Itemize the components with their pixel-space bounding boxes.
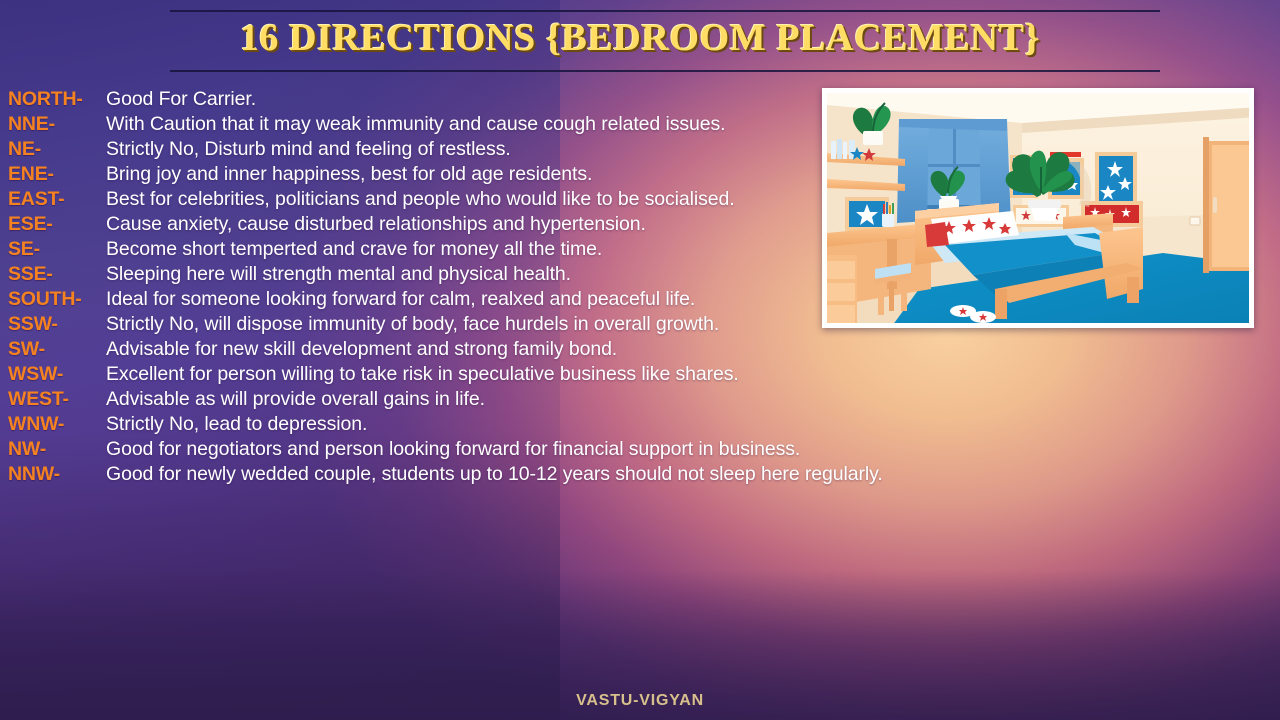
bedroom-scene	[827, 93, 1249, 323]
direction-label-ese: ESE-	[8, 212, 106, 237]
direction-row: SSE-Sleeping here will strength mental a…	[8, 262, 888, 287]
direction-description: Best for celebrities, politicians and pe…	[106, 187, 888, 212]
slide-canvas: 16 DIRECTIONS {BEDROOM PLACEMENT} NORTH-…	[0, 0, 1280, 720]
direction-row: SW-Advisable for new skill development a…	[8, 337, 888, 362]
bed-leg-front	[995, 289, 1007, 319]
direction-label-west: WEST-	[8, 387, 106, 412]
title-rule-top	[170, 10, 1160, 12]
curtain-left	[897, 119, 929, 223]
direction-description: Good for negotiators and person looking …	[106, 437, 888, 462]
pillow-red-edge	[925, 222, 949, 247]
bedroom-svg	[827, 93, 1249, 323]
direction-label-se: SE-	[8, 237, 106, 262]
direction-row: SE-Become short temperted and crave for …	[8, 237, 888, 262]
direction-row: WEST-Advisable as will provide overall g…	[8, 387, 888, 412]
direction-description: Strictly No, lead to depression.	[106, 412, 888, 437]
direction-description: Become short temperted and crave for mon…	[106, 237, 888, 262]
direction-row: NE-Strictly No, Disturb mind and feeling…	[8, 137, 888, 162]
direction-label-nw: NW-	[8, 437, 106, 462]
bed-leg-back	[1127, 277, 1139, 303]
direction-label-ssw: SSW-	[8, 312, 106, 337]
direction-description: With Caution that it may weak immunity a…	[106, 112, 888, 137]
direction-description: Strictly No, will dispose immunity of bo…	[106, 312, 888, 337]
bedroom-illustration	[822, 88, 1254, 328]
direction-label-north: NORTH-	[8, 87, 106, 112]
direction-row: SOUTH-Ideal for someone looking forward …	[8, 287, 888, 312]
direction-description: Strictly No, Disturb mind and feeling of…	[106, 137, 888, 162]
direction-description: Sleeping here will strength mental and p…	[106, 262, 888, 287]
direction-description: Good for newly wedded couple, students u…	[106, 462, 888, 487]
page-title: 16 DIRECTIONS {BEDROOM PLACEMENT}	[0, 16, 1280, 60]
drawer-unit	[827, 255, 857, 323]
direction-row: NNE-With Caution that it may weak immuni…	[8, 112, 888, 137]
stool	[875, 263, 911, 315]
direction-label-wsw: WSW-	[8, 362, 106, 387]
door-panel	[1212, 145, 1249, 267]
direction-description: Ideal for someone looking forward for ca…	[106, 287, 888, 312]
direction-description: Bring joy and inner happiness, best for …	[106, 162, 888, 187]
footer-brand: VASTU-VIGYAN	[0, 692, 1280, 710]
direction-description: Advisable for new skill development and …	[106, 337, 888, 362]
direction-label-east: EAST-	[8, 187, 106, 212]
light-switch	[1190, 217, 1200, 225]
direction-label-ne: NE-	[8, 137, 106, 162]
direction-row: EAST-Best for celebrities, politicians a…	[8, 187, 888, 212]
direction-row: NNW-Good for newly wedded couple, studen…	[8, 462, 888, 487]
shelf-books	[831, 139, 855, 159]
title-rule-bottom	[170, 70, 1160, 72]
direction-label-nne: NNE-	[8, 112, 106, 137]
direction-row: WSW-Excellent for person willing to take…	[8, 362, 888, 387]
direction-label-sw: SW-	[8, 337, 106, 362]
door-frame	[1203, 137, 1209, 273]
direction-row: SSW-Strictly No, will dispose immunity o…	[8, 312, 888, 337]
direction-label-ene: ENE-	[8, 162, 106, 187]
direction-row: ENE-Bring joy and inner happiness, best …	[8, 162, 888, 187]
direction-description: Excellent for person willing to take ris…	[106, 362, 888, 387]
door-handle	[1213, 197, 1217, 213]
direction-label-wnw: WNW-	[8, 412, 106, 437]
direction-description: Advisable as will provide overall gains …	[106, 387, 888, 412]
direction-label-south: SOUTH-	[8, 287, 106, 312]
direction-row: WNW-Strictly No, lead to depression.	[8, 412, 888, 437]
direction-row: NW-Good for negotiators and person looki…	[8, 437, 888, 462]
direction-row: ESE-Cause anxiety, cause disturbed relat…	[8, 212, 888, 237]
direction-label-nnw: NNW-	[8, 462, 106, 487]
pencil-cup	[882, 202, 894, 227]
directions-list: NORTH-Good For Carrier.NNE-With Caution …	[8, 87, 888, 487]
direction-label-sse: SSE-	[8, 262, 106, 287]
direction-row: NORTH-Good For Carrier.	[8, 87, 888, 112]
direction-description: Good For Carrier.	[106, 87, 888, 112]
direction-description: Cause anxiety, cause disturbed relations…	[106, 212, 888, 237]
